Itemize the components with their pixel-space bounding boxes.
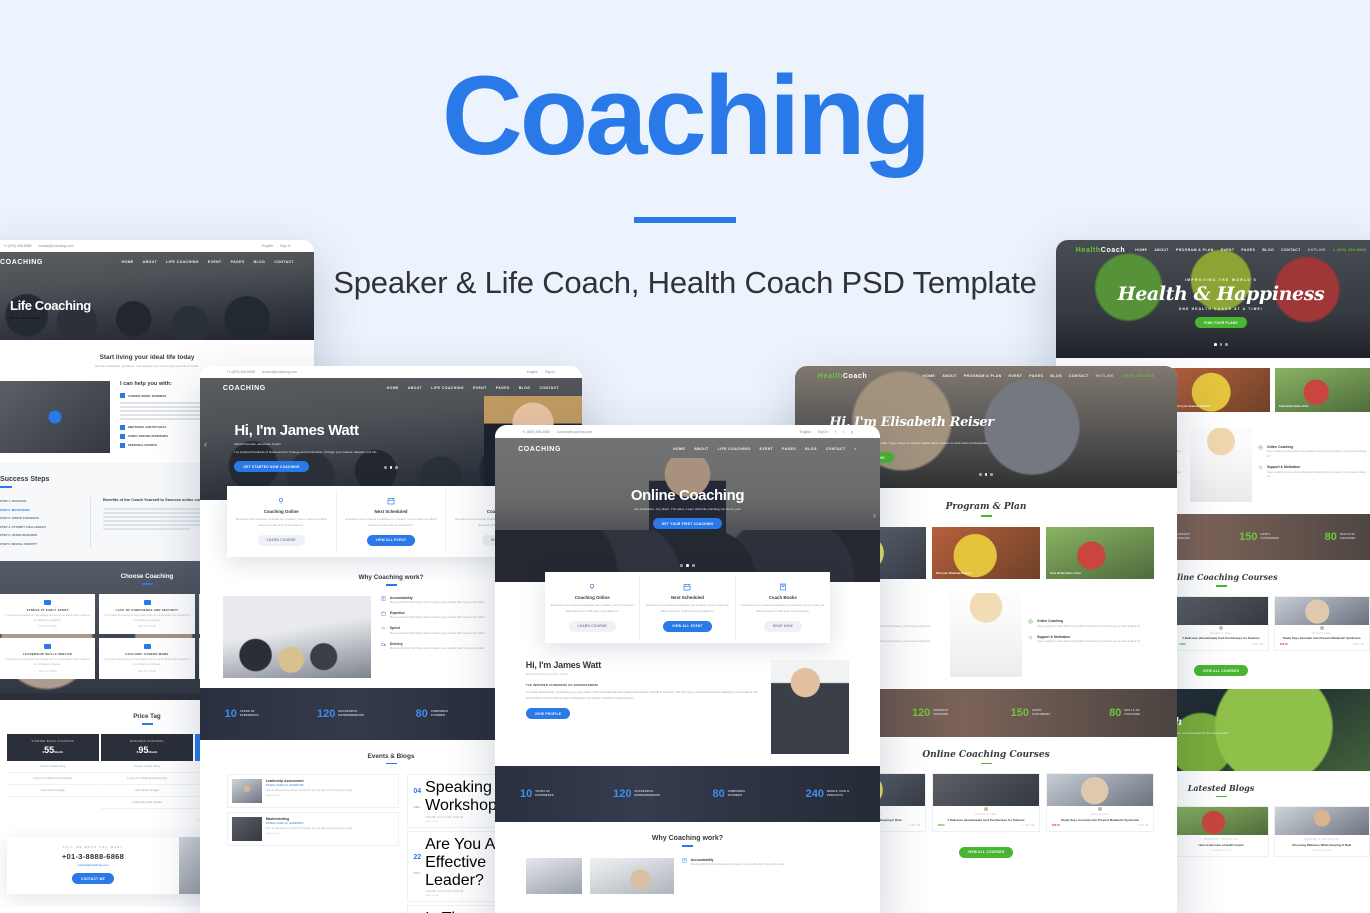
- service-cards: Coaching Online Excepteur sint occaecat …: [545, 572, 830, 643]
- delivery-icon: [381, 642, 386, 647]
- nav-blog[interactable]: BLOG: [1050, 374, 1062, 378]
- course-card[interactable]: Howard le Page 7 Delicious (Homemade) Ic…: [932, 773, 1040, 832]
- language-select[interactable]: English: [527, 370, 538, 374]
- help-item[interactable]: EMOTIONAL AND PHYSICAL: [128, 425, 166, 429]
- play-button-icon[interactable]: [49, 411, 62, 424]
- service-card[interactable]: Coach Books Excepteur sint occaecat cupi…: [736, 576, 830, 639]
- nav-home[interactable]: HOME: [387, 386, 399, 390]
- stat-item: 80COMPANIES FOUNDED: [416, 708, 459, 720]
- breadcrumb: Home / Life Coaching: [10, 316, 91, 321]
- logo-health: Health: [1076, 247, 1101, 254]
- course-image: [1174, 597, 1268, 625]
- nav-about[interactable]: ABOUT: [1154, 248, 1168, 252]
- price-column[interactable]: BUSINESS COACHING $95Month Person of dai…: [101, 734, 193, 821]
- hero-title: Online Coaching: [495, 487, 880, 504]
- signin-link[interactable]: Sign In: [545, 370, 556, 374]
- cta-phone[interactable]: +01-3-8888-6868: [13, 852, 174, 861]
- nav-program-plan[interactable]: PROGRAM & PLAN: [1176, 248, 1214, 252]
- hero-cta-button[interactable]: GET YOUR FIRST COACHING: [653, 518, 723, 529]
- steps-list[interactable]: STEP 1: PRACTICE STEP 2: MOTIVATION STEP…: [0, 497, 78, 549]
- course-card[interactable]: Howard le Page 7 Delicious (Homemade) Ic…: [1173, 596, 1269, 651]
- nav-blog[interactable]: BLOG: [1262, 248, 1274, 252]
- nav-event[interactable]: EVENT: [759, 447, 773, 451]
- page-title: Coaching: [0, 60, 1370, 172]
- stat-item: 80SKILLS OF COACHING: [1325, 531, 1368, 543]
- hero-kicker: IMPROVING THE WORLD'S: [1056, 278, 1370, 282]
- nav-pages[interactable]: PAGES: [1029, 374, 1043, 378]
- blog-thumbnail: [232, 779, 262, 803]
- view-all-courses-button[interactable]: VIEW ALL COURSES: [1194, 665, 1249, 676]
- speed-icon: [381, 626, 386, 631]
- hero-cta-button[interactable]: FIND YOUR PLANS: [1195, 317, 1247, 328]
- choose-card[interactable]: LEADERSHIP SKILLS SERVICEIf you have are…: [0, 638, 95, 679]
- mockup-online-coaching-center[interactable]: +1 (800) 456-6688 contact@coaching.com E…: [495, 425, 880, 913]
- avatar: [1097, 806, 1103, 812]
- step-item[interactable]: STEP 5: OFFER REWARDS: [0, 531, 78, 540]
- about-kicker: I'VE INSPIRED HUNDREDS OF BUSINESSMEN!: [526, 683, 759, 687]
- plus-icon[interactable]: [120, 393, 125, 398]
- stat-item: 120WORKOUT SESSIONS: [912, 707, 961, 719]
- nav-pages[interactable]: PAGES: [782, 447, 796, 451]
- main-nav[interactable]: HOME ABOUT LIFE COACHING EVENT PAGES BLO…: [122, 260, 294, 264]
- stat-item: 10YEARS OF EXPERIENCE: [520, 788, 563, 800]
- feature-item: Support & MotivationKeep reading to lear…: [1028, 635, 1154, 645]
- hotline-number[interactable]: 1 (800) 456-6688: [1121, 374, 1154, 378]
- nav-contact[interactable]: CONTACT: [274, 260, 294, 264]
- nav-home[interactable]: HOME: [1135, 248, 1147, 252]
- service-card[interactable]: Coaching Online Excepteur sint occaecat …: [227, 490, 336, 553]
- main-nav[interactable]: HOME ABOUT PROGRAM & PLAN EVENT PAGES BL…: [1135, 248, 1366, 252]
- site-logo[interactable]: HealthCoach: [1076, 247, 1125, 254]
- nav-event[interactable]: EVENT: [1009, 374, 1023, 378]
- bulb-icon: [588, 583, 596, 591]
- stat-item: 120SUCCESSFUL ENTREPRENEURS: [317, 708, 366, 720]
- hero-title: Health & Happiness: [1056, 283, 1370, 305]
- carousel-dots[interactable]: [495, 554, 880, 572]
- feature-item: AccountabilityMost people find that thin…: [682, 858, 849, 868]
- nav-life-coaching[interactable]: LIFE COACHING: [431, 386, 464, 390]
- program-card[interactable]: Find your financial freedom: [1172, 368, 1270, 412]
- help-item[interactable]: PERSONAL GROWTH: [128, 443, 157, 447]
- nav-contact[interactable]: CONTACT: [1281, 248, 1301, 252]
- stats-band: 10YEARS OF EXPERIENCE 120SUCCESSFUL ENTR…: [495, 766, 880, 822]
- hero-title: Hi, I'm James Watt: [234, 422, 463, 439]
- view-all-courses-button[interactable]: VIEW ALL COURSES: [959, 847, 1014, 858]
- nav-home[interactable]: HOME: [673, 447, 685, 451]
- step-item[interactable]: STEP 4: ATTEMPT CHALLENGES: [0, 523, 78, 532]
- carousel-prev-arrow[interactable]: ‹: [204, 439, 207, 449]
- stat-item: 80SKILLS OF COACHING: [1109, 707, 1152, 719]
- page-title: Life Coaching: [10, 298, 91, 313]
- stat-item: 150HAPPY CUSTOMERS: [1239, 531, 1288, 543]
- nav-about[interactable]: ABOUT: [942, 374, 956, 378]
- nav-blog[interactable]: BLOG: [254, 260, 266, 264]
- support-motivation-icon: [1258, 465, 1263, 470]
- main-nav[interactable]: HOME ABOUT LIFE COACHING EVENT PAGES BLO…: [673, 447, 857, 451]
- plus-icon[interactable]: [120, 443, 125, 448]
- plus-icon[interactable]: [120, 434, 125, 439]
- accountability-icon: [682, 858, 687, 863]
- hero-text: I've inspired hundreds of businessmen! C…: [234, 450, 384, 455]
- help-item[interactable]: FAMILY AND RELATIONSHIPS: [128, 434, 168, 438]
- hero-sub: ONE HEALTH COACH AT A TIME!: [1056, 307, 1370, 311]
- graduation-icon: [44, 644, 51, 649]
- learn-course-button[interactable]: LEARN COURSE: [569, 621, 616, 632]
- nav-about[interactable]: ABOUT: [408, 386, 422, 390]
- title-divider: [634, 217, 736, 223]
- blog-thumbnail: [232, 817, 262, 841]
- signin-link[interactable]: Sign In: [280, 244, 291, 248]
- logo-coach: Coach: [1101, 247, 1125, 254]
- trainer-photo: [1190, 428, 1252, 502]
- site-logo[interactable]: COACHING: [223, 385, 266, 392]
- search-icon[interactable]: ⌕: [855, 447, 857, 451]
- view-profile-button[interactable]: VIEW PROFILE: [526, 708, 570, 719]
- carousel-dots[interactable]: [1056, 333, 1370, 351]
- choose-card[interactable]: LACK OF CONFIDENCE AND SECURITYIf you ha…: [99, 594, 194, 635]
- graduation-icon: [144, 644, 151, 649]
- main-nav[interactable]: HOME ABOUT LIFE COACHING EVENT PAGES BLO…: [387, 386, 559, 390]
- nav-blog[interactable]: BLOG: [519, 386, 531, 390]
- trainer-photo: [950, 593, 1022, 677]
- blog-item[interactable]: Leadership Assessment Published 12 DEC 2…: [227, 774, 400, 808]
- service-card[interactable]: Next Scheduled Excepteur sint occaecat c…: [337, 490, 446, 553]
- google-icon[interactable]: g: [851, 430, 853, 434]
- nav-event[interactable]: EVENT: [473, 386, 487, 390]
- shop-now-button[interactable]: SHOP NOW: [764, 621, 802, 632]
- accountability-icon: [381, 596, 386, 601]
- logo-health: Health: [818, 373, 843, 380]
- nav-contact[interactable]: CONTACT: [826, 447, 846, 451]
- step-item[interactable]: STEP 1: PRACTICE: [0, 497, 78, 506]
- feature-item: Support & MotivationKeep reading to lear…: [1258, 465, 1370, 480]
- learn-course-button[interactable]: LEARN COURSE: [258, 535, 305, 546]
- feature-item: Online CoachingKeep reading to learn abo…: [1028, 619, 1154, 629]
- preview-stage: +1 (800) 456-6688 contact@coaching.com E…: [0, 0, 1370, 913]
- nav-event[interactable]: EVENT: [1221, 248, 1235, 252]
- nav-life-coaching[interactable]: LIFE COACHING: [718, 447, 751, 451]
- choose-card[interactable]: COACHING CAREER WORKIf you have are look…: [99, 638, 194, 679]
- step-item[interactable]: STEP 6: REVEAL IDENTITY: [0, 540, 78, 549]
- program-card[interactable]: Find your financial freedom: [932, 527, 1040, 579]
- price-column[interactable]: STARTER BASIC COACHING $55Month Person o…: [7, 734, 99, 821]
- nav-event[interactable]: EVENT: [208, 260, 222, 264]
- stat-item: 10YEARS OF EXPERIENCE: [225, 708, 268, 720]
- book-icon: [779, 583, 787, 591]
- nav-home[interactable]: HOME: [122, 260, 134, 264]
- calendar-icon: [387, 497, 395, 505]
- blog-image: [1174, 807, 1268, 835]
- why-image: [223, 596, 371, 678]
- hotline-number[interactable]: 1 (800) 456-6688: [1333, 248, 1366, 252]
- site-logo[interactable]: COACHING: [0, 259, 43, 266]
- support-motivation-icon: [1028, 635, 1033, 640]
- blog-card[interactable]: SUPPORT & MOTIVATIONChoosing Wellness Wh…: [1274, 806, 1370, 856]
- phone-text: +1 (800) 456-6688: [227, 370, 255, 374]
- online-coaching-icon: [1028, 619, 1033, 624]
- carousel-next-arrow[interactable]: ›: [873, 510, 876, 520]
- course-image: [933, 774, 1039, 806]
- topbar: +1 (800) 456-6688 contact@coaching.com E…: [0, 240, 314, 252]
- graduation-icon: [44, 600, 51, 605]
- facebook-icon[interactable]: f: [835, 430, 836, 434]
- nav-blog[interactable]: BLOG: [805, 447, 817, 451]
- site-logo[interactable]: HealthCoach: [818, 373, 867, 380]
- briefcase-icon: [381, 611, 386, 616]
- blog-list: Leadership Assessment Published 12 DEC 2…: [227, 774, 400, 913]
- phone-text: +1 (800) 456-6688: [3, 244, 31, 248]
- hotline-label: HOTLINE: [1096, 374, 1114, 378]
- nav-pages[interactable]: PAGES: [496, 386, 510, 390]
- logo-coach: Coach: [843, 373, 867, 380]
- nav-pages[interactable]: PAGES: [231, 260, 245, 264]
- calendar-icon: [683, 583, 691, 591]
- course-image: [1275, 597, 1369, 625]
- nav-pages[interactable]: PAGES: [1241, 248, 1255, 252]
- course-card[interactable]: Richard Allen Study Says Avocado Can Pre…: [1274, 596, 1370, 651]
- section-title: Start living your ideal life today: [0, 354, 294, 361]
- hero-role: Mental Founder, Executive Coach: [234, 442, 463, 447]
- service-card[interactable]: Next Scheduled Excepteur sint occaecat c…: [640, 576, 734, 639]
- why-title: Why Coaching work?: [526, 835, 849, 842]
- view-all-event-button[interactable]: VIEW ALL EVENT: [663, 621, 712, 632]
- signin-link[interactable]: Sign In: [818, 430, 829, 434]
- stat-item: 80COMPANIES FOUNDED: [712, 788, 755, 800]
- online-coaching-icon: [1258, 445, 1263, 450]
- course-card[interactable]: Richard Allen Study Says Avocado Can Pre…: [1046, 773, 1154, 832]
- nav-about[interactable]: ABOUT: [694, 447, 708, 451]
- service-card[interactable]: Coaching Online Excepteur sint occaecat …: [545, 576, 639, 639]
- blog-image: [1275, 807, 1369, 835]
- language-select[interactable]: English: [262, 244, 273, 248]
- nav-about[interactable]: ABOUT: [143, 260, 157, 264]
- about-role: Mental Founder, Executive Coach: [526, 672, 759, 676]
- phone-text: +1 (800) 456-6688: [522, 430, 550, 434]
- why-image-2: [590, 858, 674, 894]
- nav-contact[interactable]: CONTACT: [539, 386, 559, 390]
- program-card[interactable]: Tone all the items of fun: [1046, 527, 1154, 579]
- feature-item: Online CoachingKeep reading to learn abo…: [1258, 445, 1370, 460]
- cta-email[interactable]: contact@coaching.com: [13, 863, 174, 867]
- email-text: contact@coaching.com: [557, 430, 592, 434]
- nav-home[interactable]: HOME: [923, 374, 935, 378]
- video-thumbnail[interactable]: [0, 381, 110, 453]
- avatar: [1319, 625, 1325, 631]
- about-text: I'm owner and founder of Coaching.com an…: [526, 690, 759, 702]
- hero-text: Get inspiration. Any place. The place. L…: [573, 507, 803, 512]
- twitter-icon[interactable]: t: [843, 430, 844, 434]
- blog-item[interactable]: Masterminding Published 11 DEC 24, LEADE…: [227, 812, 400, 846]
- cta-kicker: TELL ME WHAT YOU WANT: [13, 846, 174, 849]
- blog-card[interactable]: WORKOUT / NUTRITIONHow to Become a Healt…: [1173, 806, 1269, 856]
- nav-contact[interactable]: CONTACT: [1069, 374, 1089, 378]
- why-image-1: [526, 858, 582, 894]
- choose-card[interactable]: STRESS AT EARLY SPORTIf you have are loo…: [0, 594, 95, 635]
- coach-photo: [771, 660, 849, 754]
- hotline-label: HOTLINE: [1308, 248, 1326, 252]
- view-all-event-button[interactable]: VIEW ALL EVENT: [367, 535, 416, 546]
- stat-item: 150HAPPY CUSTOMERS: [1011, 707, 1060, 719]
- section-why-coaching: Why Coaching work? AccountabilityMost pe…: [495, 822, 880, 907]
- graduation-icon: [144, 600, 151, 605]
- bulb-icon: [277, 497, 285, 505]
- email-text: contact@coaching.com: [262, 370, 297, 374]
- stat-item: 120SUCCESSFUL ENTREPRENEURS: [613, 788, 662, 800]
- step-item[interactable]: STEP 3: GROUP FEEDBACK: [0, 514, 78, 523]
- avatar: [983, 806, 989, 812]
- nav-life-coaching[interactable]: LIFE COACHING: [166, 260, 199, 264]
- step-item-active[interactable]: STEP 2: MOTIVATION: [0, 505, 78, 514]
- language-select[interactable]: English: [800, 430, 811, 434]
- about-title: Hi, I'm James Watt: [526, 660, 759, 670]
- email-text: contact@coaching.com: [38, 244, 73, 248]
- contact-me-button[interactable]: CONTACT ME: [72, 873, 114, 884]
- main-nav[interactable]: HOME ABOUT PROGRAM & PLAN EVENT PAGES BL…: [923, 374, 1154, 378]
- stat-item: 240BOOKS, PAID & PODCASTS: [806, 788, 855, 800]
- plus-icon[interactable]: [120, 425, 125, 430]
- avatar: [1218, 625, 1224, 631]
- help-item[interactable]: CAREER, WORK, BUSINESS: [128, 394, 166, 398]
- course-image: [1047, 774, 1153, 806]
- program-card[interactable]: Tone all the items of fun: [1275, 368, 1370, 412]
- nav-program-plan[interactable]: PROGRAM & PLAN: [964, 374, 1002, 378]
- site-logo[interactable]: COACHING: [518, 446, 561, 453]
